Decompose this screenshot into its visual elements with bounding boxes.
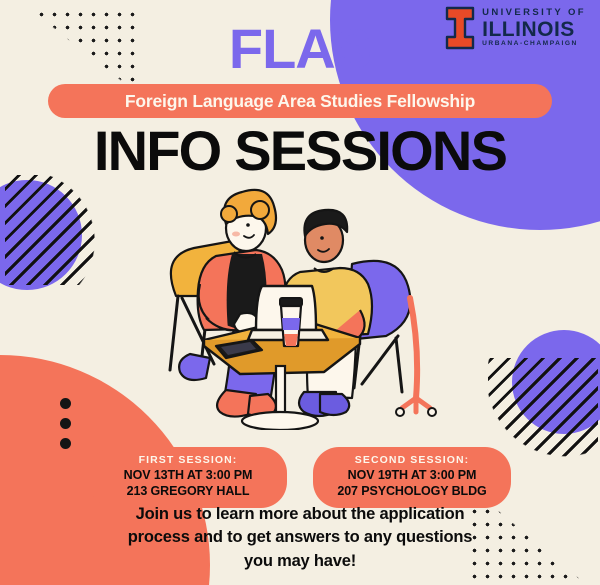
sessions-list: FIRST SESSION: NOV 13TH AT 3:00 PM 213 G… xyxy=(0,447,600,508)
session-location: 213 GREGORY HALL xyxy=(107,484,269,500)
backpack xyxy=(179,354,210,380)
logo-wordmark: UNIVERSITY OF ILLINOIS URBANA-CHAMPAIGN xyxy=(482,8,586,47)
coffee-cup xyxy=(280,298,302,346)
flas-info-session-poster: UNIVERSITY OF ILLINOIS URBANA-CHAMPAIGN … xyxy=(0,0,600,585)
three-dots-decoration xyxy=(60,398,71,449)
logo-line-urbana-champaign: URBANA-CHAMPAIGN xyxy=(482,41,586,48)
dot-1 xyxy=(60,398,71,409)
footer-line-2: process and to get answers to any questi… xyxy=(128,528,472,546)
diagonal-stripes-left xyxy=(5,175,115,285)
footer-note: Join us to learn more about the applicat… xyxy=(70,503,530,573)
block-i-icon xyxy=(445,6,475,50)
footer-line-3: you may have! xyxy=(244,552,356,570)
session-pill-first[interactable]: FIRST SESSION: NOV 13TH AT 3:00 PM 213 G… xyxy=(89,447,287,508)
subtitle-pill: Foreign Language Area Studies Fellowship xyxy=(48,84,552,118)
dot-2 xyxy=(60,418,71,429)
footer-line-1: Join us to learn more about the applicat… xyxy=(136,505,465,523)
session-datetime: NOV 19TH AT 3:00 PM xyxy=(331,468,493,484)
session-datetime: NOV 13TH AT 3:00 PM xyxy=(107,468,269,484)
purple-circle-right xyxy=(512,330,600,434)
session-label: SECOND SESSION: xyxy=(331,454,493,466)
logo-line-university-of: UNIVERSITY OF xyxy=(482,8,586,18)
subtitle-text: Foreign Language Area Studies Fellowship xyxy=(125,91,475,112)
purple-circle-left xyxy=(0,180,82,290)
session-pill-second[interactable]: SECOND SESSION: NOV 19TH AT 3:00 PM 207 … xyxy=(313,447,511,508)
session-location: 207 PSYCHOLOGY BLDG xyxy=(331,484,493,500)
session-label: FIRST SESSION: xyxy=(107,454,269,466)
diagonal-stripes-right xyxy=(488,358,598,458)
university-of-illinois-logo: UNIVERSITY OF ILLINOIS URBANA-CHAMPAIGN xyxy=(445,6,586,50)
page-title: INFO SESSIONS xyxy=(0,118,600,183)
two-people-at-table-illustration xyxy=(148,178,468,430)
logo-line-illinois: ILLINOIS xyxy=(482,19,586,40)
